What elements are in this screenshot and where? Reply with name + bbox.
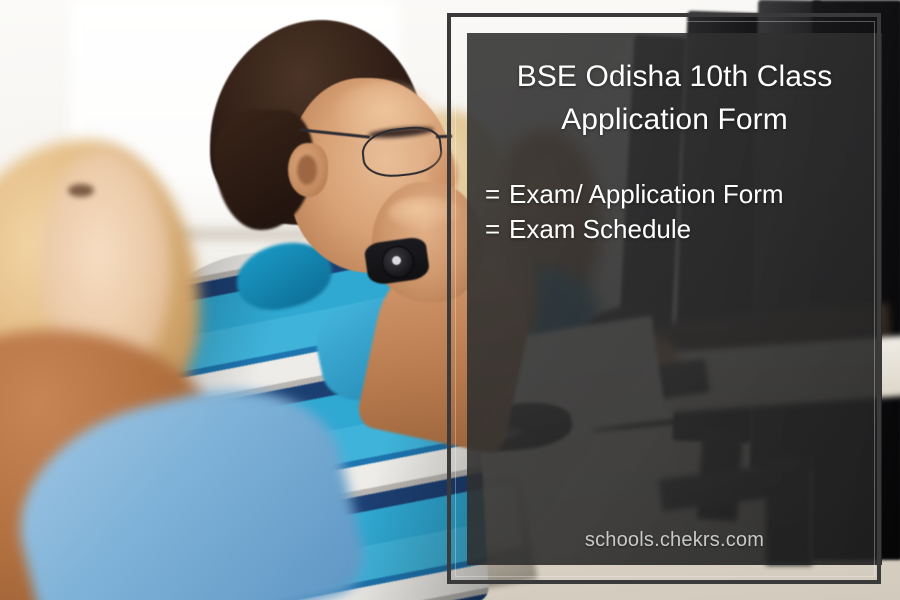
poster-title-line-1: BSE Odisha 10th Class: [481, 55, 868, 98]
poster-title: BSE Odisha 10th Class Application Form: [467, 55, 882, 141]
site-watermark: schools.chekrs.com: [467, 529, 882, 552]
poster-title-line-2: Application Form: [481, 98, 868, 141]
poster-image: BSE Odisha 10th Class Application Form =…: [0, 0, 900, 600]
wristwatch-dial-dot: [392, 256, 401, 265]
list-item-label: Exam Schedule: [509, 214, 691, 244]
boy-knuckles-highlight: [388, 196, 462, 230]
poster-bullet-list: =Exam/ Application Form =Exam Schedule: [485, 177, 875, 247]
equals-bullet-icon: =: [485, 177, 509, 212]
list-item: =Exam/ Application Form: [485, 177, 875, 212]
equals-bullet-icon: =: [485, 212, 509, 247]
foreground-girl-eye: [68, 184, 94, 197]
list-item-label: Exam/ Application Form: [509, 179, 784, 209]
list-item: =Exam Schedule: [485, 212, 875, 247]
eyeglasses-bridge: [436, 135, 452, 139]
overlay-content: BSE Odisha 10th Class Application Form =…: [467, 33, 882, 565]
boy-ear-inner: [297, 155, 317, 185]
